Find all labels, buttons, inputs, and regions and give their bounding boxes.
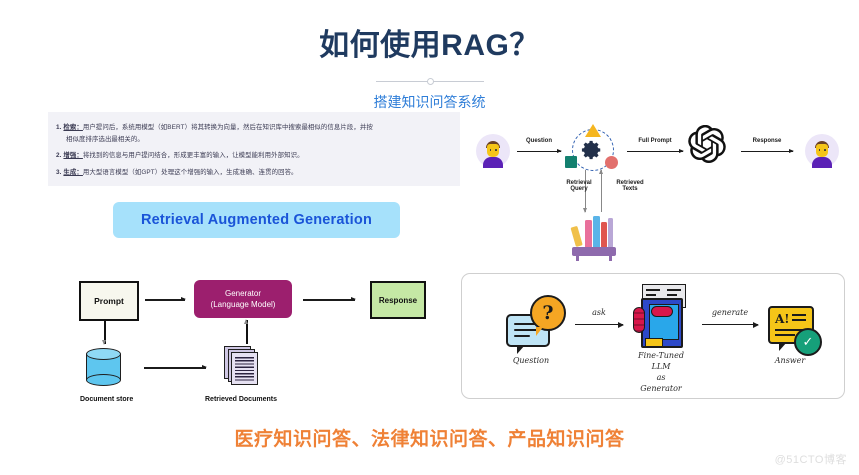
step-1-text: 用户提问后，系统用模型（如BERT）将其转换为向量，然后在知识库中搜索最相似的信… [83,124,373,131]
shelf-leg-left-icon [576,255,579,261]
label-generate: generate [702,308,758,317]
bookworm-head-icon [651,306,673,317]
slide-header: 如何使用RAG？ 搭建知识问答系统 [0,0,859,112]
openai-logo-icon [688,125,726,163]
prompt-label: Prompt [94,296,124,306]
step-3-text: 用大型语言模型（如GPT）处理这个增强的输入，生成准确、连贯的回答。 [83,169,298,176]
finetuned-llm-panel: ? Question ask Fine-Tuned LLM as Generat… [461,273,845,399]
document-sheet-front [231,352,258,385]
watermark: @51CTO博客 [775,451,847,467]
rag-flow-diagram: Question Full Prompt Response Retrieval … [460,112,859,262]
label-retrieval-query-line2: Query [570,186,587,192]
answer-line-1 [792,314,806,316]
answer-ai-text: A! [775,313,790,325]
divider-dot-icon [427,78,434,85]
finetuned-llm-icon [633,284,688,346]
user-avatar-left [476,134,510,168]
generator-label-line1: Generator [225,288,261,299]
llm-caption-line4: Generator [640,384,681,393]
label-full-prompt: Full Prompt [627,138,683,144]
response-box: Response [370,281,426,319]
rag-engine-icon [563,124,621,178]
rack-slot-1 [646,289,660,291]
step-2-text: 将找到的信息与用户提问结合，形成更丰富的输入，让模型能利用外部知识。 [83,152,304,159]
book-red-icon [601,222,607,248]
circle-icon [605,156,618,169]
book-pink-icon [585,220,592,248]
avatar-eye-right [495,149,497,151]
arrow-generate [702,324,758,325]
step-item-2: 2. 增强：将找到的信息与用户提问结合，形成更丰富的输入，让模型能利用外部知识。 [56,150,452,162]
arrow-prompt-to-store [104,320,106,344]
label-question: Question [517,138,561,144]
book-blue-icon [593,216,600,248]
knowledge-base-bookshelf-icon [568,212,620,256]
cylinder-top [86,348,121,360]
avatar-eye-left [490,149,492,151]
rag-banner-label: Retrieval Augmented Generation [141,212,372,228]
step-item-3: 3. 生成：用大型语言模型（如GPT）处理这个增强的输入，生成准确、连贯的回答。 [56,167,452,179]
arrow-retrieved-texts [601,170,602,212]
bubble-line-3 [514,335,530,337]
question-mark-icon: ? [530,295,566,331]
check-circle-icon: ✓ [794,328,822,356]
document-store-icon [86,348,121,386]
arrow-question [517,151,561,152]
generator-label-line2: (Language Model) [211,299,276,310]
step-2-keyword: 增强： [63,152,82,159]
triangle-icon [585,124,601,137]
llm-caption-line3: as [657,373,666,382]
book-yellow-icon [570,226,582,247]
label-ask: ask [575,308,623,317]
rack-slot-2 [646,294,656,296]
step-item-1: 1. 检索：用户提问后，系统用模型（如BERT）将其转换为向量，然后在知识库中搜… [56,122,452,145]
response-label: Response [379,296,417,305]
label-retrieved-texts: Retrieved Texts [606,180,654,192]
shelf-leg-right-icon [609,255,612,261]
step-1-text-cont: 相似度排序选出最相关的。 [56,134,452,146]
steps-text-block: 1. 检索：用户提问后，系统用模型（如BERT）将其转换为向量，然后在知识库中搜… [48,112,460,186]
book-purple-icon [608,218,613,248]
answer-caption: Answer [762,356,818,365]
llm-caption: Fine-Tuned LLM as Generator [622,350,700,394]
answer-line-4 [775,334,795,336]
step-2-number: 2. [56,152,62,159]
book-ribbon-icon [645,338,663,347]
label-retrieved-texts-line2: Texts [622,186,637,192]
arrow-response [741,151,793,152]
answer-line-2 [792,319,806,321]
step-1-keyword: 检索： [63,124,82,131]
label-retrieval-query: Retrieval Query [556,180,602,192]
arrow-ask [575,324,623,325]
step-3-number: 3. [56,169,62,176]
arrow-full-prompt [627,151,683,152]
arrow-store-to-documents [144,367,206,369]
arrow-documents-to-generator [246,320,248,344]
rack-slot-4 [667,294,677,296]
page-subtitle: 搭建知识问答系统 [0,92,859,112]
avatar-body [812,157,832,168]
question-caption: Question [500,356,562,365]
avatar-eye-right [824,149,826,151]
use-cases-banner: 医疗知识问答、法律知识问答、产品知识问答 [0,424,859,451]
step-1-number: 1. [56,124,62,131]
avatar-face [487,144,499,157]
step-3-keyword: 生成： [63,169,82,176]
avatar-eye-left [819,149,821,151]
rack-slot-3 [667,289,681,291]
arrow-prompt-to-generator [145,299,185,301]
retrieved-documents-caption: Retrieved Documents [205,396,277,403]
arrow-generator-to-response [303,299,355,301]
page-title: 如何使用RAG？ [0,0,859,64]
gear-icon [581,139,603,161]
cylinder-bottom [86,374,121,386]
avatar-face [816,144,828,157]
prompt-box: Prompt [79,281,139,321]
generator-box: Generator (Language Model) [194,280,292,318]
rag-banner: Retrieval Augmented Generation [113,202,400,238]
square-icon [565,156,577,168]
document-store-caption: Document store [80,396,133,403]
rag-pipeline-diagram: Prompt Generator (Language Model) Respon… [60,268,460,413]
bookworm-body-icon [633,307,645,333]
retrieved-documents-icon [224,346,266,388]
avatar-body [483,157,503,168]
label-response: Response [741,138,793,144]
llm-caption-line1: Fine-Tuned [638,351,684,360]
llm-caption-line2: LLM [652,362,671,371]
user-avatar-right [805,134,839,168]
title-divider [376,76,484,86]
